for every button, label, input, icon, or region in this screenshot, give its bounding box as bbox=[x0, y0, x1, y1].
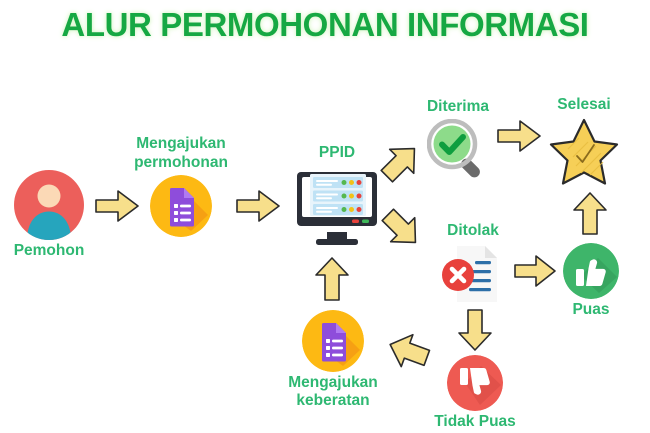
thumbs-down-circle-icon bbox=[447, 355, 503, 411]
magnifier-check-icon bbox=[427, 119, 489, 181]
form-document-icon bbox=[150, 175, 212, 237]
user-circle-icon bbox=[14, 170, 84, 240]
page-title: ALUR PERMOHONAN INFORMASI bbox=[0, 6, 650, 44]
arrow-ppid-to-diterima bbox=[377, 138, 425, 186]
arrow-form-to-ppid bbox=[233, 186, 283, 226]
node-label-selesai: Selesai bbox=[484, 96, 650, 114]
star-check-icon bbox=[548, 117, 620, 187]
node-label-tidak-puas: Tidak Puas bbox=[375, 413, 575, 431]
flowchart-canvas: ALUR PERMOHONAN INFORMASI Pemohon bbox=[0, 0, 650, 433]
arrow-keberatan-to-ppid bbox=[313, 250, 353, 304]
arrow-diterima-to-selesai bbox=[494, 116, 544, 156]
node-label-puas: Puas bbox=[491, 301, 650, 319]
node-puas[interactable]: Puas bbox=[563, 243, 619, 299]
node-ditolak[interactable]: Ditolak bbox=[437, 243, 509, 305]
document-reject-icon bbox=[437, 243, 509, 305]
node-selesai[interactable]: Selesai bbox=[548, 117, 620, 187]
arrow-tidak-puas-to-keberatan bbox=[383, 327, 433, 375]
node-mengajukan-keberatan[interactable]: Mengajukan keberatan bbox=[302, 310, 364, 372]
form-document-icon bbox=[302, 310, 364, 372]
monitor-list-icon bbox=[294, 168, 380, 248]
node-label-mengajukan-keberatan: Mengajukan keberatan bbox=[233, 374, 433, 411]
node-diterima[interactable]: Diterima bbox=[427, 119, 489, 181]
node-label-pemohon: Pemohon bbox=[0, 242, 149, 260]
node-ppid[interactable]: PPID bbox=[294, 168, 380, 248]
node-tidak-puas[interactable]: Tidak Puas bbox=[447, 355, 503, 411]
node-mengajukan-permohonan[interactable]: Mengajukan permohonan bbox=[150, 175, 212, 237]
arrow-ditolak-to-tidak-puas bbox=[455, 306, 495, 356]
arrow-pemohon-to-form bbox=[92, 186, 142, 226]
node-pemohon[interactable]: Pemohon bbox=[14, 170, 84, 240]
thumbs-up-circle-icon bbox=[563, 243, 619, 299]
arrow-ppid-to-ditolak bbox=[378, 205, 426, 253]
arrow-ditolak-to-puas bbox=[512, 251, 560, 291]
arrow-puas-to-selesai bbox=[570, 186, 610, 238]
